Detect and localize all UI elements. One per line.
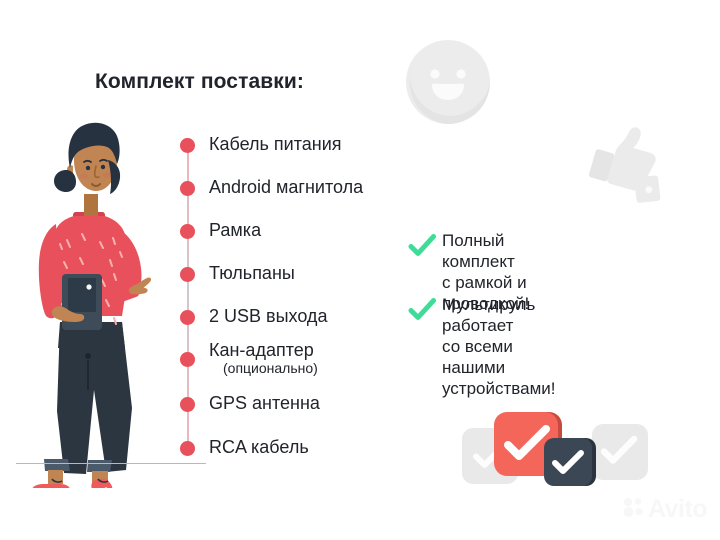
woman-pointing-illustration <box>14 108 174 488</box>
list-bullet <box>180 267 195 282</box>
list-item-sublabel: (опционально) <box>223 361 318 376</box>
checkbox-badge-dark <box>544 438 592 486</box>
list-bullet <box>180 441 195 456</box>
list-bullet <box>180 397 195 412</box>
list-bullet <box>180 310 195 325</box>
green-check-icon <box>408 232 436 260</box>
list-item: Android магнитола <box>209 178 363 197</box>
list-item: 2 USB выхода <box>209 307 327 326</box>
list-bullet <box>180 352 195 367</box>
list-item: RCA кабель <box>209 438 309 457</box>
list-bullet <box>180 224 195 239</box>
list-bullet <box>180 181 195 196</box>
list-item: Рамка <box>209 221 261 240</box>
checkbox-badge-group <box>462 412 648 490</box>
list-item-label: Кан-адаптер <box>209 340 314 360</box>
smiley-face-icon <box>404 38 492 126</box>
list-item: GPS антенна <box>209 394 320 413</box>
thumbs-up-icon <box>578 116 678 216</box>
ground-line <box>16 463 206 464</box>
list-item: Кан-адаптер (опционально) <box>209 341 318 377</box>
package-contents-list: Кабель питания Android магнитола Рамка Т… <box>176 130 476 460</box>
avito-wordmark: Avito <box>648 497 707 522</box>
avito-watermark: Avito <box>622 496 707 523</box>
list-bullet <box>180 138 195 153</box>
green-check-icon <box>408 296 436 324</box>
benefit-text: Мультируль работает со всеми нашими устр… <box>442 294 556 399</box>
avito-logo-icon <box>622 496 644 523</box>
list-item: Тюльпаны <box>209 264 295 283</box>
list-item: Кабель питания <box>209 135 342 154</box>
promo-banner: Комплект поставки: Кабель питания Androi… <box>0 0 720 540</box>
page-title: Комплект поставки: <box>95 70 304 94</box>
checkbox-badge-grey-right <box>592 424 648 480</box>
